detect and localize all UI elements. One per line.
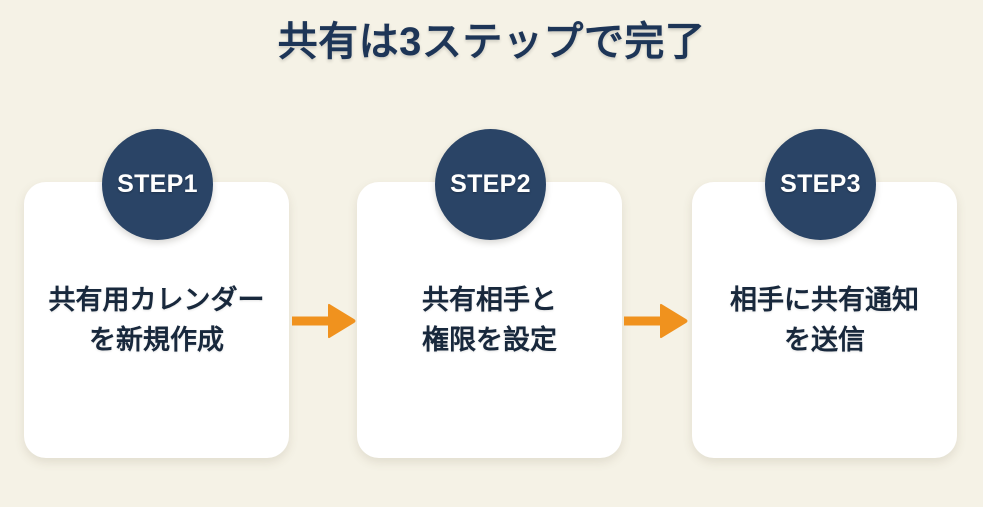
- step-badge-1-label: STEP1: [117, 172, 198, 197]
- step-badge-3: STEP3: [765, 129, 876, 240]
- step-card-3-line-1: 相手に共有通知: [730, 280, 919, 321]
- step-card-2-line-2: 権限を設定: [422, 320, 557, 361]
- step-card-3-line-2: を送信: [784, 320, 865, 361]
- steps-row: 共有用カレンダー を新規作成 STEP1 共有相手と 権限を設定: [0, 0, 983, 507]
- arrow-step1-to-step2-icon: [292, 303, 356, 339]
- infographic-canvas: 共有は3ステップで完了 共有用カレンダー を新規作成 STEP1: [0, 0, 983, 507]
- step-badge-2-label: STEP2: [450, 172, 531, 197]
- step-group-1: 共有用カレンダー を新規作成 STEP1: [24, 182, 289, 458]
- step-card-2-line-1: 共有相手と: [422, 280, 557, 321]
- arrow-step2-to-step3-icon: [624, 303, 688, 339]
- step-card-1-line-2: を新規作成: [89, 320, 224, 361]
- step-group-2: 共有相手と 権限を設定 STEP2: [357, 182, 622, 458]
- step-badge-2: STEP2: [435, 129, 546, 240]
- step-group-3: 相手に共有通知 を送信 STEP3: [692, 182, 957, 458]
- step-badge-1: STEP1: [102, 129, 213, 240]
- step-badge-3-label: STEP3: [780, 172, 861, 197]
- step-card-1-line-1: 共有用カレンダー: [49, 280, 265, 321]
